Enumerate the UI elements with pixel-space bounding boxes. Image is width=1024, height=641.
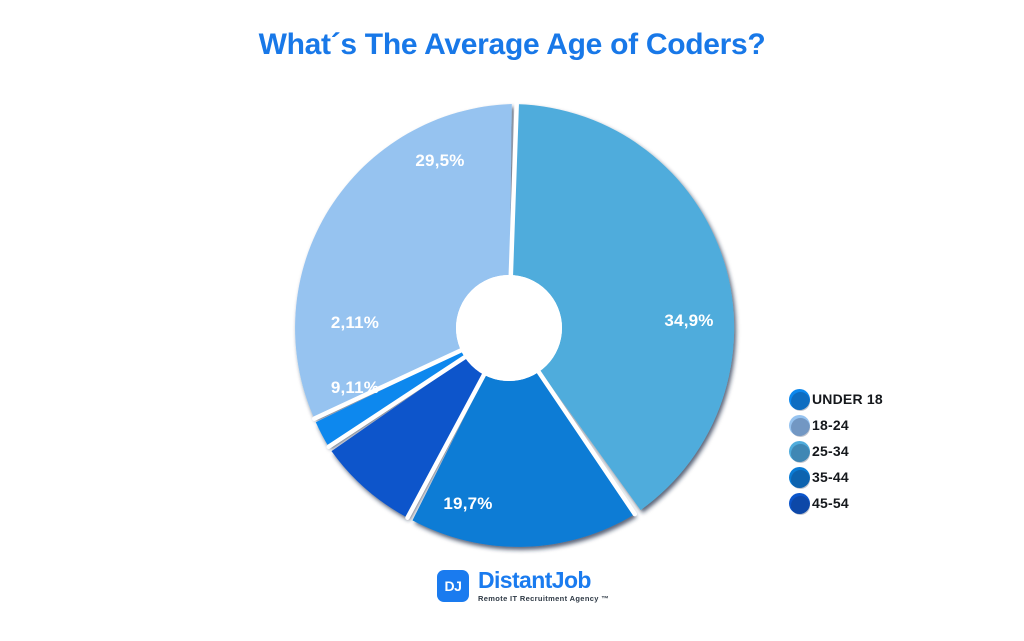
chart-legend: UNDER 18 18-24 25-34 35-44 45-54 bbox=[789, 386, 964, 516]
legend-item-25-34[interactable]: 25-34 bbox=[789, 438, 964, 464]
legend-item-35-44[interactable]: 35-44 bbox=[789, 464, 964, 490]
dj-monogram-label: DJ bbox=[445, 578, 462, 594]
distantjob-logo[interactable]: DJ DistantJob Remote IT Recruitment Agen… bbox=[437, 569, 609, 603]
legend-item-18-24[interactable]: 18-24 bbox=[789, 412, 964, 438]
legend-item-45-54[interactable]: 45-54 bbox=[789, 490, 964, 516]
slice-value-35-44: 19,7% bbox=[443, 494, 492, 513]
donut-hole bbox=[456, 275, 562, 381]
legend-swatch-icon bbox=[789, 441, 810, 462]
legend-item-label: 25-34 bbox=[812, 443, 849, 459]
legend-swatch-icon bbox=[789, 467, 810, 488]
legend-swatch-icon bbox=[789, 415, 810, 436]
logo-text-block: DistantJob Remote IT Recruitment Agency … bbox=[478, 569, 609, 603]
page-title: What´s The Average Age of Coders? bbox=[0, 28, 1024, 62]
dj-monogram-icon: DJ bbox=[437, 570, 469, 602]
legend-item-under-18[interactable]: UNDER 18 bbox=[789, 386, 964, 412]
legend-swatch-icon bbox=[789, 493, 810, 514]
legend-item-label: 45-54 bbox=[812, 495, 849, 511]
legend-item-label: 35-44 bbox=[812, 469, 849, 485]
legend-item-label: 18-24 bbox=[812, 417, 849, 433]
logo-wordmark: DistantJob bbox=[478, 569, 609, 592]
pie-chart: 29,5% 34,9% 19,7% 9,11% 2,11% bbox=[277, 96, 741, 560]
slice-value-45-54: 9,11% bbox=[331, 378, 379, 397]
legend-item-label: UNDER 18 bbox=[812, 391, 883, 407]
slice-value-25-34: 34,9% bbox=[664, 311, 713, 330]
donut-chart-svg: 29,5% 34,9% 19,7% 9,11% 2,11% bbox=[277, 96, 741, 560]
slice-value-18-24: 29,5% bbox=[415, 151, 464, 170]
logo-tagline: Remote IT Recruitment Agency ™ bbox=[478, 595, 609, 603]
slice-value-under-18: 2,11% bbox=[331, 313, 379, 332]
legend-swatch-icon bbox=[789, 389, 810, 410]
